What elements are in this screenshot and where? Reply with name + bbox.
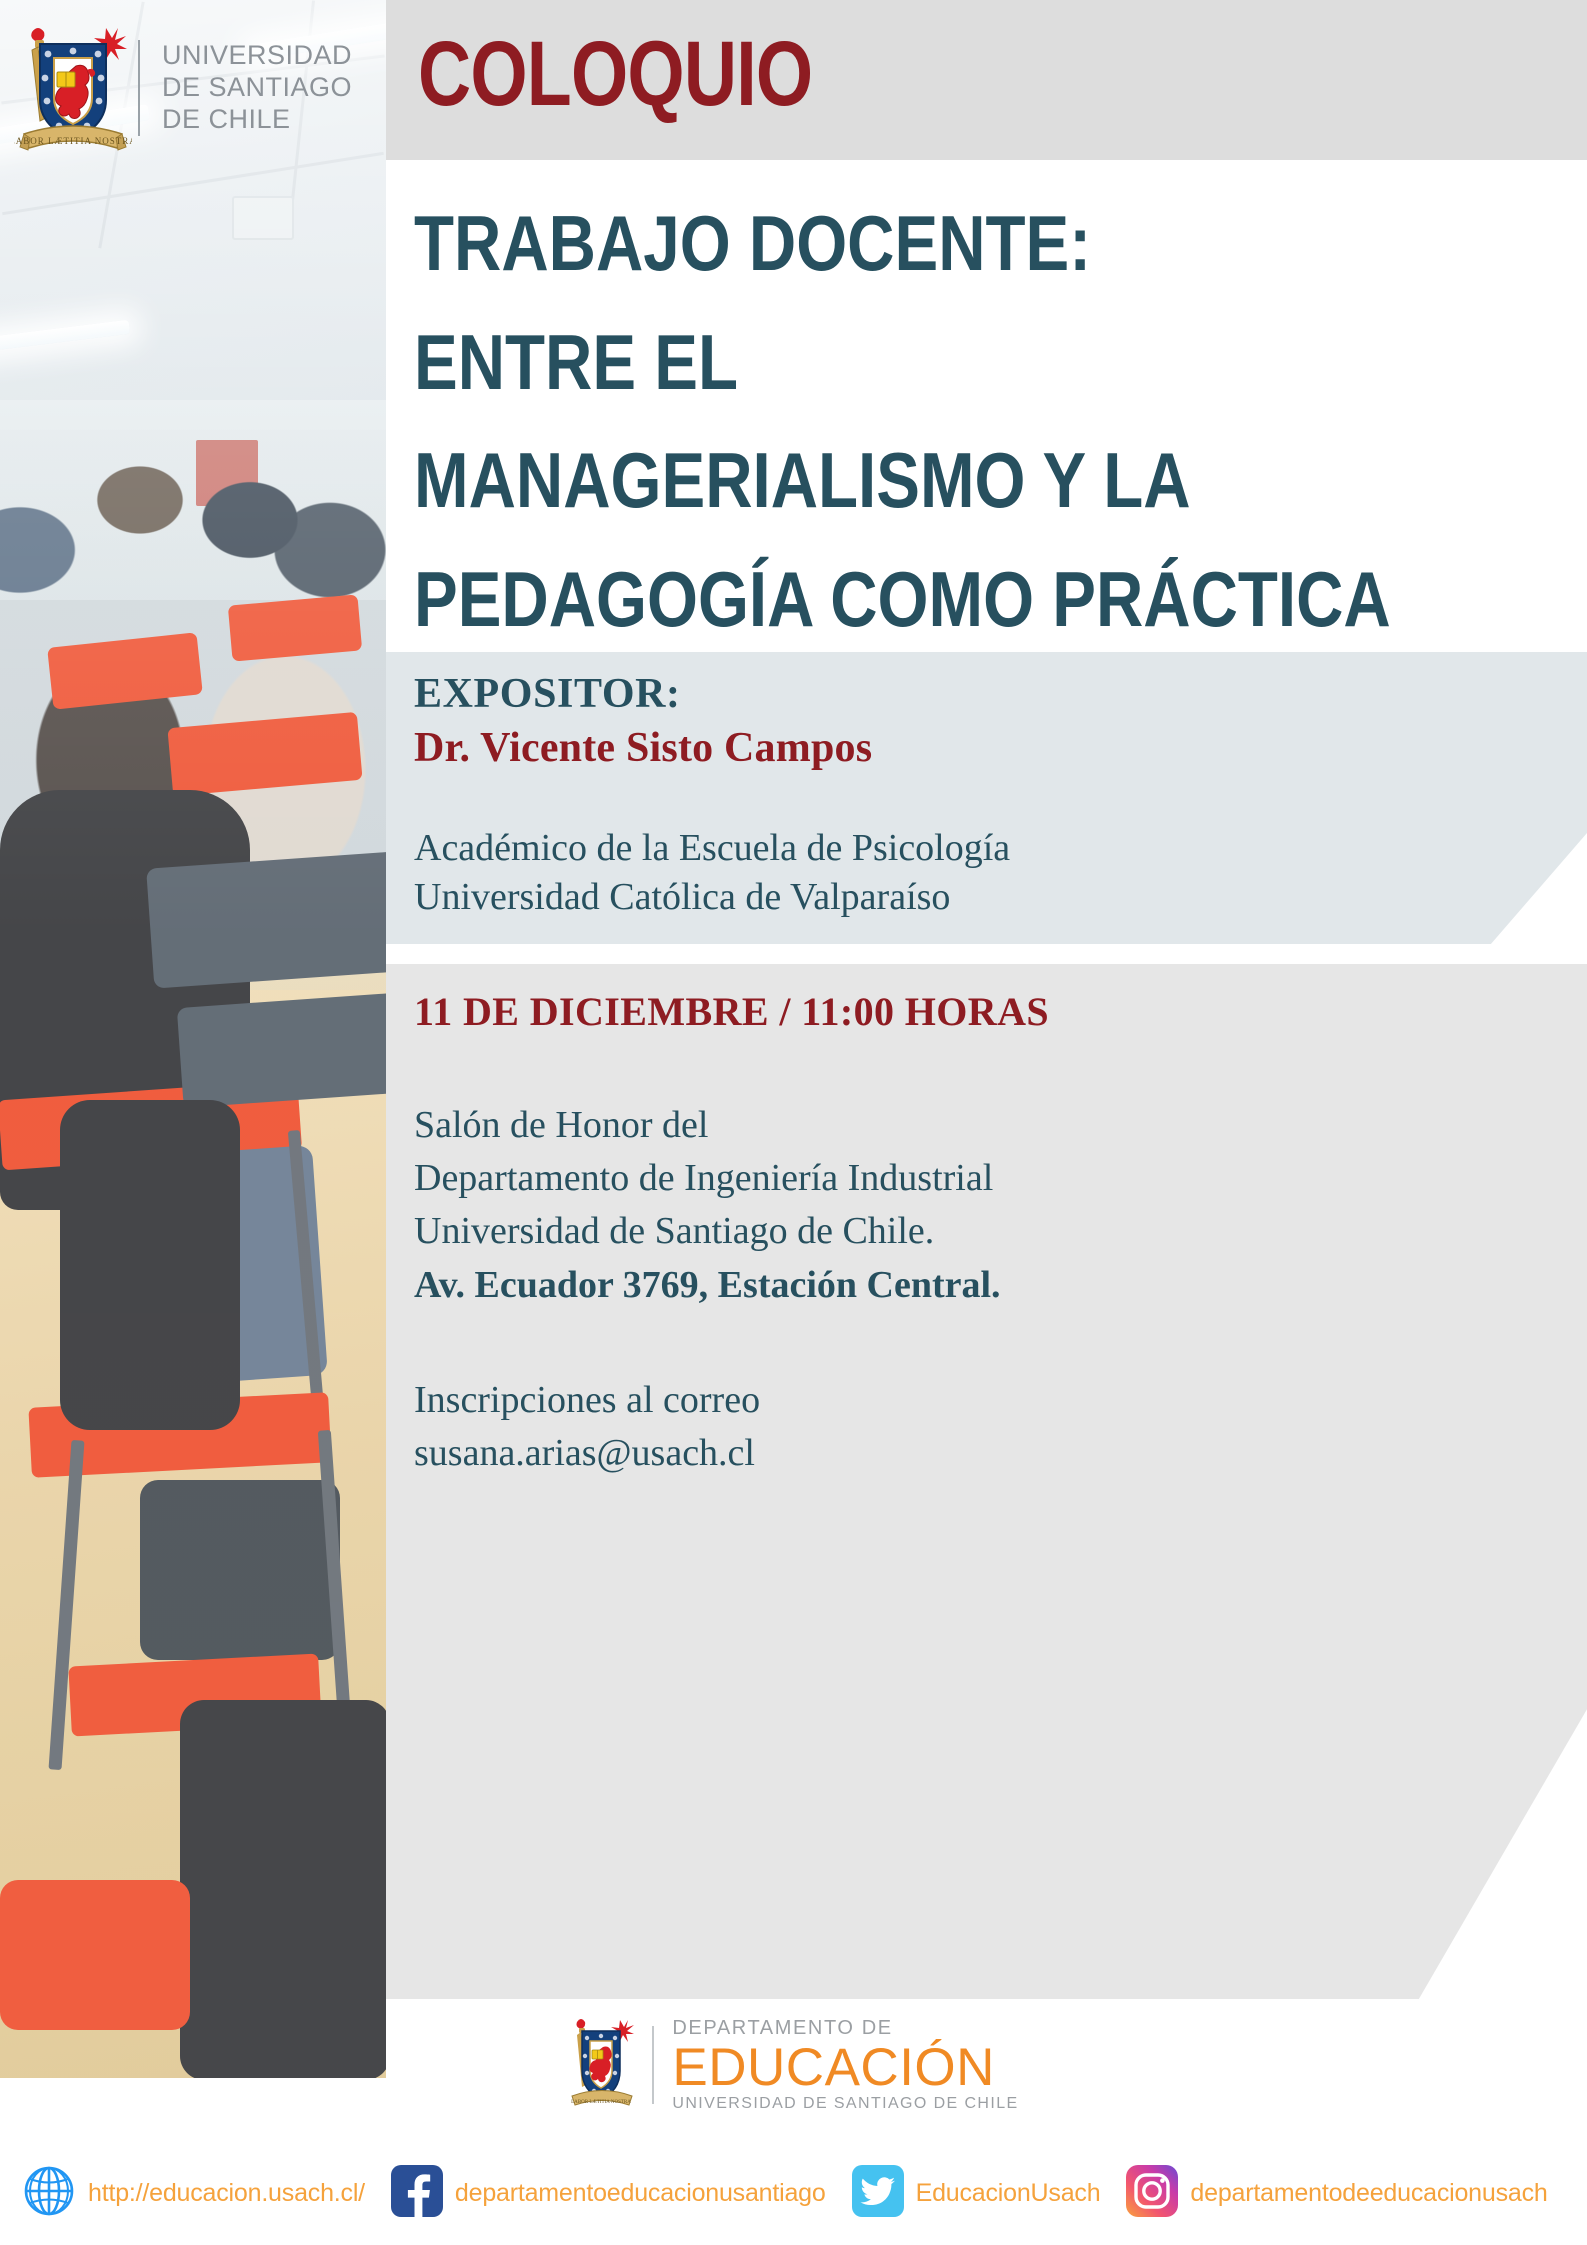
speaker-block: EXPOSITOR: Dr. Vicente Sisto Campos Acad… — [414, 670, 1414, 921]
usach-crest-small-icon: LABOR LÆTITIA NOSTRA — [568, 2017, 634, 2113]
footer-item-instagram[interactable]: departamentodeeducacionusach — [1126, 2165, 1547, 2222]
title-line-3: MANAGERIALISMO Y LA — [414, 421, 1372, 540]
usach-logo-wordmark: UNIVERSIDAD DE SANTIAGO DE CHILE — [162, 40, 352, 136]
title-line-1: TRABAJO DOCENTE: — [414, 184, 1372, 303]
usach-logo-line3: DE CHILE — [162, 104, 352, 136]
registration-email[interactable]: susana.arias@usach.cl — [414, 1427, 1474, 1480]
venue-line-3: Universidad de Santiago de Chile. — [414, 1205, 1474, 1258]
details-band: 11 DE DICIEMBRE / 11:00 HORAS Salón de H… — [386, 964, 1587, 1999]
department-logo-bottom: UNIVERSIDAD DE SANTIAGO DE CHILE — [672, 2096, 1018, 2112]
footer-item-facebook[interactable]: departamentoeducacionusantiago — [391, 2165, 826, 2222]
venue-address: Av. Ecuador 3769, Estación Central. — [414, 1259, 1474, 1312]
speaker-label: EXPOSITOR: — [414, 670, 1414, 718]
title-band: TRABAJO DOCENTE: ENTRE EL MANAGERIALISMO… — [386, 160, 1587, 652]
registration-block: Inscripciones al correo susana.arias@usa… — [414, 1374, 1474, 1480]
usach-logo: LABOR LÆTITIA NOSTRA UNIVERSIDAD DE SANT… — [14, 18, 374, 158]
svg-text:LABOR LÆTITIA NOSTRA: LABOR LÆTITIA NOSTRA — [14, 136, 132, 146]
speaker-name: Dr. Vicente Sisto Campos — [414, 724, 1414, 772]
lecture-hall-photo — [0, 0, 386, 2078]
registration-label: Inscripciones al correo — [414, 1374, 1474, 1427]
footer-facebook-text: departamentoeducacionusantiago — [455, 2179, 826, 2208]
usach-logo-line2: DE SANTIAGO — [162, 72, 352, 104]
speaker-affiliation-line2: Universidad Católica de Valparaíso — [414, 873, 1414, 922]
speaker-affiliation-line1: Académico de la Escuela de Psicología — [414, 824, 1414, 873]
venue-line-1: Salón de Honor del — [414, 1099, 1474, 1152]
event-datetime: 11 DE DICIEMBRE / 11:00 HORAS — [414, 988, 1474, 1035]
page-title: TRABAJO DOCENTE: ENTRE EL MANAGERIALISMO… — [414, 184, 1554, 658]
department-logo-wordmark: DEPARTAMENTO DE EDUCACIÓN UNIVERSIDAD DE… — [672, 2018, 1018, 2112]
poster-content-column: COLOQUIO TRABAJO DOCENTE: ENTRE EL MANAG… — [386, 0, 1587, 2078]
twitter-icon — [852, 2165, 904, 2222]
social-footer: http://educacion.usach.cl/ departamentoe… — [0, 2142, 1587, 2245]
department-logo-divider — [652, 2026, 654, 2104]
department-logo-middle: EDUCACIÓN — [672, 2041, 1018, 2094]
footer-twitter-text: EducacionUsach — [916, 2179, 1101, 2208]
footer-instagram-text: departamentodeeducacionusach — [1190, 2179, 1547, 2208]
event-venue: Salón de Honor del Departamento de Ingen… — [414, 1099, 1474, 1312]
speaker-band: EXPOSITOR: Dr. Vicente Sisto Campos Acad… — [386, 652, 1587, 944]
title-line-4: PEDAGOGÍA COMO PRÁCTICA — [414, 540, 1372, 659]
svg-text:LABOR LÆTITIA NOSTRA: LABOR LÆTITIA NOSTRA — [572, 2100, 632, 2105]
globe-icon — [22, 2164, 76, 2223]
logo-divider — [138, 40, 140, 136]
photo-overlay-wash — [0, 0, 386, 2078]
facebook-icon — [391, 2165, 443, 2222]
footer-website-text: http://educacion.usach.cl/ — [88, 2179, 365, 2208]
usach-crest-icon: LABOR LÆTITIA NOSTRA — [14, 22, 132, 154]
details-block: 11 DE DICIEMBRE / 11:00 HORAS Salón de H… — [414, 988, 1474, 1480]
speaker-affiliation: Académico de la Escuela de Psicología Un… — [414, 824, 1414, 921]
instagram-icon — [1126, 2165, 1178, 2222]
title-line-2: ENTRE EL — [414, 303, 1372, 422]
department-logo-top: DEPARTAMENTO DE — [672, 2018, 1018, 2038]
department-logo: LABOR LÆTITIA NOSTRA DEPARTAMENTO DE EDU… — [0, 2000, 1587, 2130]
usach-logo-line1: UNIVERSIDAD — [162, 40, 352, 72]
footer-item-twitter[interactable]: EducacionUsach — [852, 2165, 1101, 2222]
kicker-band: COLOQUIO — [386, 0, 1587, 160]
venue-line-2: Departamento de Ingeniería Industrial — [414, 1152, 1474, 1205]
kicker-text: COLOQUIO — [418, 28, 812, 120]
footer-item-website[interactable]: http://educacion.usach.cl/ — [22, 2164, 365, 2223]
